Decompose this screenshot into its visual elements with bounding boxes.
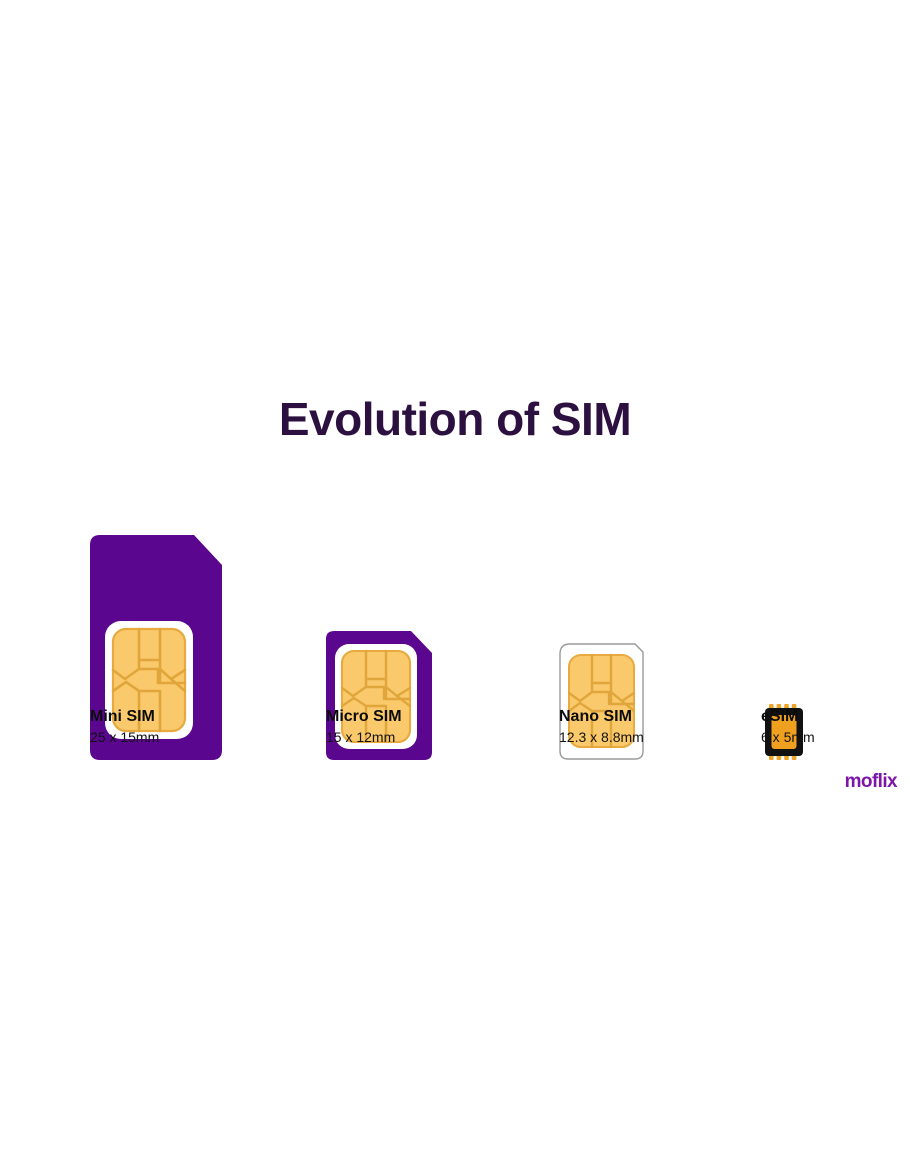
- sim-item-mini-sim[interactable]: Mini SIM 25 x 15mm: [90, 440, 320, 760]
- mini-sim-dimensions: 25 x 15mm: [90, 730, 159, 745]
- infographic-canvas: Evolution of SIM: [0, 0, 910, 1155]
- mini-sim-label: Mini SIM: [90, 708, 155, 726]
- page-title: Evolution of SIM: [0, 396, 910, 442]
- nano-sim-label: Nano SIM: [559, 708, 632, 726]
- brand-logo: moflix: [845, 772, 897, 791]
- sim-item-nano-sim[interactable]: Nano SIM 12.3 x 8.8mm: [559, 440, 779, 760]
- micro-sim-label: Micro SIM: [326, 708, 402, 726]
- esim-label: eSIM: [761, 708, 798, 726]
- mini-sim-graphic: [90, 535, 222, 760]
- micro-sim-dimensions: 15 x 12mm: [326, 730, 395, 745]
- sim-item-esim[interactable]: eSIM 6 x 5mm: [761, 440, 901, 760]
- sim-item-micro-sim[interactable]: Micro SIM 15 x 12mm: [326, 440, 546, 760]
- nano-sim-dimensions: 12.3 x 8.8mm: [559, 730, 644, 745]
- esim-dimensions: 6 x 5mm: [761, 730, 815, 745]
- sim-comparison-row: Mini SIM 25 x 15mm: [0, 440, 910, 760]
